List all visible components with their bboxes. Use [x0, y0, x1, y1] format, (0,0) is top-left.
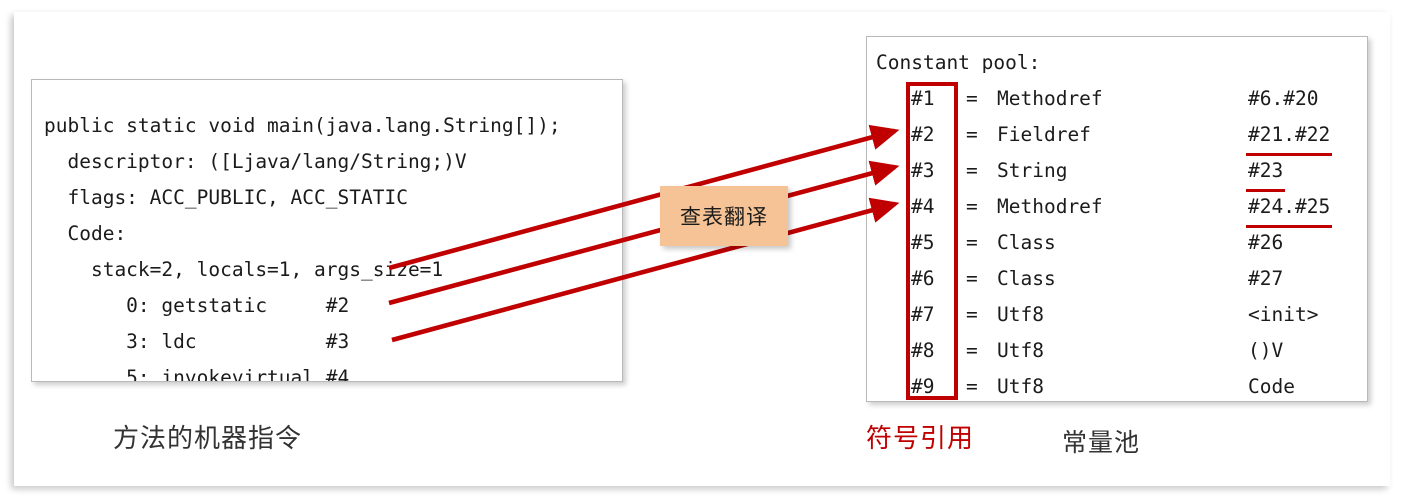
pool-entry-equals: =: [966, 189, 978, 225]
pool-entry-kind: Utf8: [997, 369, 1044, 402]
constant-pool-row: #3=String#23: [867, 153, 1367, 189]
pool-entry-value-text: #26: [1248, 231, 1283, 254]
constant-pool-row: #7=Utf8<init>: [867, 297, 1367, 333]
pool-entry-value-underlined: #23: [1248, 153, 1283, 189]
pool-entry-value: #21.#22: [1248, 117, 1330, 153]
caption-constant-pool: 常量池: [1062, 423, 1140, 459]
pool-entry-value-text: #6.#20: [1248, 87, 1318, 110]
pool-entry-kind: Fieldref: [997, 117, 1091, 153]
pool-entry-value: <init>: [1248, 297, 1318, 333]
pool-entry-value-underlined: #21.#22: [1248, 117, 1330, 153]
pool-entry-value: #6.#20: [1248, 81, 1318, 117]
pool-entry-kind: Class: [997, 225, 1056, 261]
pool-entry-value-text: #27: [1248, 267, 1283, 290]
constant-pool-row: #2=Fieldref#21.#22: [867, 117, 1367, 153]
pool-entry-equals: =: [966, 225, 978, 261]
caption-symbolic-reference: 符号引用: [866, 418, 974, 455]
constant-pool-row: #9=Utf8Code: [867, 369, 1367, 402]
pool-entry-value: Code: [1248, 369, 1295, 402]
constant-pool-row: #1=Methodref#6.#20: [867, 81, 1367, 117]
pool-entry-index: #9: [911, 369, 959, 402]
diagram-canvas: public static void main(java.lang.String…: [0, 0, 1401, 498]
pool-entry-kind: Methodref: [997, 81, 1103, 117]
pool-entry-index: #4: [911, 189, 959, 225]
pool-entry-value: #26: [1248, 225, 1283, 261]
constant-pool-panel: Constant pool: #1=Methodref#6.#20#2=Fiel…: [866, 36, 1368, 402]
bytecode-listing: public static void main(java.lang.String…: [44, 108, 561, 383]
pool-entry-equals: =: [966, 81, 978, 117]
pool-entry-equals: =: [966, 297, 978, 333]
pool-entry-value-text: Code: [1248, 375, 1295, 398]
pool-entry-index: #6: [911, 261, 959, 297]
pool-entry-value-text: <init>: [1248, 303, 1318, 326]
pool-entry-equals: =: [966, 153, 978, 189]
pool-entry-index: #5: [911, 225, 959, 261]
pool-entry-kind: Class: [997, 261, 1056, 297]
constant-pool-row: #6=Class#27: [867, 261, 1367, 297]
constant-pool-title: Constant pool:: [876, 45, 1040, 81]
pool-entry-value: #27: [1248, 261, 1283, 297]
pool-entry-kind: Methodref: [997, 189, 1103, 225]
pool-entry-value: #24.#25: [1248, 189, 1330, 225]
pool-entry-kind: String: [997, 153, 1067, 189]
pool-entry-kind: Utf8: [997, 297, 1044, 333]
pool-entry-value: ()V: [1248, 333, 1283, 369]
caption-method-instructions: 方法的机器指令: [113, 418, 302, 455]
pool-entry-equals: =: [966, 117, 978, 153]
constant-pool-row: #4=Methodref#24.#25: [867, 189, 1367, 225]
pool-entry-equals: =: [966, 261, 978, 297]
pool-entry-index: #7: [911, 297, 959, 333]
pool-entry-kind: Utf8: [997, 333, 1044, 369]
lookup-translate-label: 查表翻译: [660, 186, 788, 246]
pool-entry-value-text: ()V: [1248, 339, 1283, 362]
pool-entry-index: #2: [911, 117, 959, 153]
constant-pool-row: #8=Utf8()V: [867, 333, 1367, 369]
pool-entry-index: #1: [911, 81, 959, 117]
pool-entry-index: #3: [911, 153, 959, 189]
method-bytecode-panel: public static void main(java.lang.String…: [31, 79, 623, 382]
pool-entry-index: #8: [911, 333, 959, 369]
constant-pool-row: #5=Class#26: [867, 225, 1367, 261]
pool-entry-value: #23: [1248, 153, 1283, 189]
pool-entry-equals: =: [966, 333, 978, 369]
pool-entry-value-underlined: #24.#25: [1248, 189, 1330, 225]
pool-entry-equals: =: [966, 369, 978, 402]
